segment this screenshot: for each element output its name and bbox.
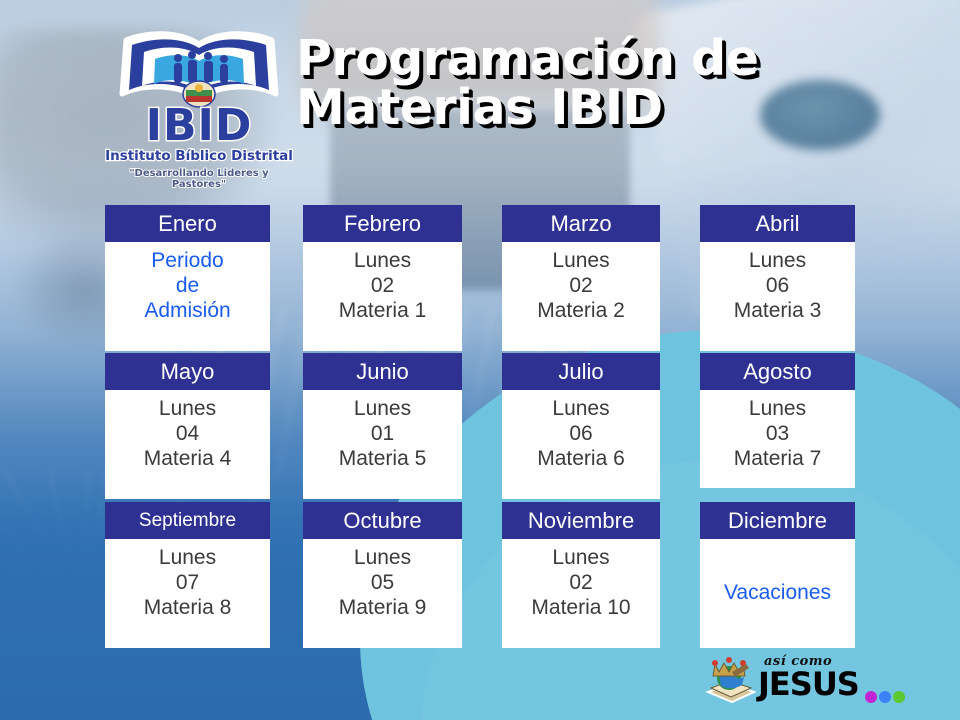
month-card-line: Vacaciones — [724, 580, 831, 605]
month-card-line: Lunes — [107, 396, 268, 421]
month-card-body: Lunes06Materia 6 — [502, 390, 660, 499]
month-card-line: Lunes — [702, 248, 853, 273]
jesus-text: JESUS — [758, 665, 859, 703]
month-card-line: Materia 6 — [504, 446, 658, 471]
month-card-body: Lunes03Materia 7 — [700, 390, 855, 488]
month-card-line: 03 — [702, 421, 853, 446]
month-card-line: Admisión — [107, 298, 268, 323]
month-card-body: Lunes04Materia 4 — [105, 390, 270, 499]
month-card-line: Materia 4 — [107, 446, 268, 471]
month-card-octubre[interactable]: OctubreLunes05Materia 9 — [303, 502, 462, 648]
month-card-line: Lunes — [504, 545, 658, 570]
month-card-line: 06 — [504, 421, 658, 446]
month-card-junio[interactable]: JunioLunes01Materia 5 — [303, 353, 462, 499]
month-card-line: Lunes — [702, 396, 853, 421]
month-card-body: Lunes05Materia 9 — [303, 539, 462, 648]
month-card-body: Lunes02Materia 1 — [303, 242, 462, 351]
month-card-mayo[interactable]: MayoLunes04Materia 4 — [105, 353, 270, 499]
month-card-line: Materia 7 — [702, 446, 853, 471]
month-card-julio[interactable]: JulioLunes06Materia 6 — [502, 353, 660, 499]
month-card-title: Enero — [105, 205, 270, 242]
month-card-line: 02 — [504, 273, 658, 298]
month-card-diciembre[interactable]: DiciembreVacaciones — [700, 502, 855, 648]
month-card-body: Lunes02Materia 2 — [502, 242, 660, 351]
month-card-title: Mayo — [105, 353, 270, 390]
month-card-line: Lunes — [305, 396, 460, 421]
month-card-body: Lunes01Materia 5 — [303, 390, 462, 499]
month-card-title: Diciembre — [700, 502, 855, 539]
month-card-body: Lunes02Materia 10 — [502, 539, 660, 648]
month-card-line: Lunes — [504, 248, 658, 273]
month-card-line: 02 — [504, 570, 658, 595]
month-card-line: 06 — [702, 273, 853, 298]
month-card-line: 01 — [305, 421, 460, 446]
crown-globe-book-emblem-icon — [702, 652, 758, 708]
month-card-title: Agosto — [700, 353, 855, 390]
month-card-line: 05 — [305, 570, 460, 595]
month-card-line: Materia 3 — [702, 298, 853, 323]
logo-dot-3 — [893, 691, 905, 703]
month-card-line: Periodo — [107, 248, 268, 273]
month-card-title: Noviembre — [502, 502, 660, 539]
logo-dots — [865, 688, 907, 706]
month-card-line: Materia 2 — [504, 298, 658, 323]
month-card-title: Marzo — [502, 205, 660, 242]
month-card-line: Lunes — [504, 396, 658, 421]
logo-dot-1 — [865, 691, 877, 703]
month-card-febrero[interactable]: FebreroLunes02Materia 1 — [303, 205, 462, 351]
month-card-line: Lunes — [305, 248, 460, 273]
month-card-noviembre[interactable]: NoviembreLunes02Materia 10 — [502, 502, 660, 648]
month-card-enero[interactable]: EneroPeriododeAdmisión — [105, 205, 270, 351]
month-card-line: Materia 5 — [305, 446, 460, 471]
month-card-title: Abril — [700, 205, 855, 242]
month-card-body: Vacaciones — [700, 539, 855, 648]
month-card-abril[interactable]: AbrilLunes06Materia 3 — [700, 205, 855, 351]
month-card-agosto[interactable]: AgostoLunes03Materia 7 — [700, 353, 855, 488]
slide-canvas: IBID Instituto Bíblico Distrital "Desarr… — [0, 0, 960, 720]
month-card-line: Materia 10 — [504, 595, 658, 620]
month-grid: EneroPeriododeAdmisiónFebreroLunes02Mate… — [0, 0, 960, 720]
month-card-line: 07 — [107, 570, 268, 595]
month-card-line: Materia 1 — [305, 298, 460, 323]
month-card-title: Junio — [303, 353, 462, 390]
month-card-body: Lunes06Materia 3 — [700, 242, 855, 351]
month-card-line: 02 — [305, 273, 460, 298]
month-card-septiembre[interactable]: SeptiembreLunes07Materia 8 — [105, 502, 270, 648]
month-card-line: de — [107, 273, 268, 298]
month-card-title: Julio — [502, 353, 660, 390]
month-card-line: Lunes — [305, 545, 460, 570]
month-card-title: Octubre — [303, 502, 462, 539]
month-card-title: Febrero — [303, 205, 462, 242]
asi-como-jesus-logo: así como JESUS — [702, 652, 912, 710]
month-card-body: PeriododeAdmisión — [105, 242, 270, 351]
month-card-line: Materia 9 — [305, 595, 460, 620]
month-card-line: Lunes — [107, 545, 268, 570]
month-card-line: Materia 8 — [107, 595, 268, 620]
month-card-body: Lunes07Materia 8 — [105, 539, 270, 648]
month-card-marzo[interactable]: MarzoLunes02Materia 2 — [502, 205, 660, 351]
logo-dot-2 — [879, 691, 891, 703]
month-card-title: Septiembre — [105, 502, 270, 539]
month-card-line: 04 — [107, 421, 268, 446]
